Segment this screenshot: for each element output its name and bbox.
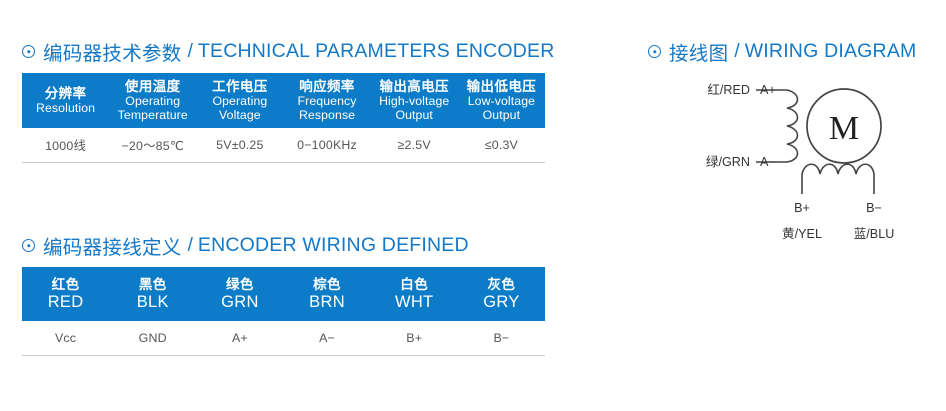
section-heading-encoder-wiring-defined: 编码器接线定义 / ENCODER WIRING DEFINED [22, 231, 469, 260]
label-b-minus: B− [866, 201, 882, 215]
column-header-brown: 棕色 BRN [283, 267, 370, 321]
column-header-black: 黑色 BLK [109, 267, 196, 321]
section-title-en: WIRING DIAGRAM [745, 40, 917, 63]
cell-red-signal: Vcc [22, 321, 109, 356]
label-a-minus: A− [760, 155, 776, 169]
column-header-en-line: High-voltage [371, 95, 458, 109]
encoder-wiring-table: 红色 RED 黑色 BLK 绿色 GRN 棕色 BRN 白色 WHT 灰色 GR… [22, 267, 545, 356]
label-red-wire: 红/RED [707, 82, 750, 97]
column-header-frequency-response: 响应频率 Frequency Response [283, 73, 370, 128]
column-header-cn: 输出低电压 [458, 79, 545, 95]
column-header-cn: 灰色 [458, 276, 545, 293]
section-heading-technical-parameters: 编码器技术参数 / TECHNICAL PARAMETERS ENCODER [22, 37, 555, 66]
column-header-cn: 红色 [22, 276, 109, 293]
cell-frequency-response-value: 0−100KHz [283, 128, 370, 163]
coil-phase-a [787, 90, 798, 162]
section-title-cn: 编码器接线定义 [43, 231, 182, 260]
section-heading-wiring-diagram: 接线图 / WIRING DIAGRAM [648, 37, 916, 66]
cell-green-signal: A+ [196, 321, 283, 356]
column-header-cn: 分辨率 [22, 86, 109, 102]
column-header-en: BRN [283, 293, 370, 312]
section-title-separator: / [734, 41, 739, 63]
column-header-cn: 白色 [371, 276, 458, 293]
section-title-en: ENCODER WIRING DEFINED [198, 234, 469, 257]
label-green-wire: 绿/GRN [706, 155, 750, 169]
column-header-cn: 响应频率 [283, 79, 370, 95]
technical-parameters-table: 分辨率 Resolution 使用温度 Operating Temperatur… [22, 73, 545, 163]
section-title-separator: / [188, 235, 193, 257]
coil-phase-b [802, 164, 874, 194]
column-header-cn: 绿色 [196, 276, 283, 293]
column-header-gray: 灰色 GRY [458, 267, 545, 321]
table-body: Vcc GND A+ A− B+ B− [22, 321, 545, 356]
section-title-cn: 编码器技术参数 [43, 37, 182, 66]
column-header-red: 红色 RED [22, 267, 109, 321]
section-title-cn: 接线图 [669, 37, 728, 66]
column-header-en: BLK [109, 293, 196, 312]
table-header-row: 红色 RED 黑色 BLK 绿色 GRN 棕色 BRN 白色 WHT 灰色 GR… [22, 267, 545, 321]
cell-high-voltage-output-value: ≥2.5V [371, 128, 458, 163]
circle-dot-icon [22, 45, 35, 58]
column-header-cn: 黑色 [109, 276, 196, 293]
motor-wiring-diagram: M 红/RED A+ 绿/GRN A− B+ B− 黄/YEL 蓝/BLU [648, 66, 938, 246]
section-title-en: TECHNICAL PARAMETERS ENCODER [198, 40, 555, 63]
label-a-plus: A+ [760, 83, 776, 97]
column-header-en: GRY [458, 293, 545, 312]
column-header-en: WHT [371, 293, 458, 312]
cell-operating-temperature-value: −20～85℃ [109, 128, 196, 163]
column-header-white: 白色 WHT [371, 267, 458, 321]
column-header-operating-voltage: 工作电压 Operating Voltage [196, 73, 283, 128]
column-header-cn: 工作电压 [196, 79, 283, 95]
cell-brown-signal: A− [283, 321, 370, 356]
column-header-cn: 输出高电压 [371, 79, 458, 95]
table-row: 1000线 −20～85℃ 5V±0.25 0−100KHz ≥2.5V ≤0.… [22, 128, 545, 163]
table-header: 红色 RED 黑色 BLK 绿色 GRN 棕色 BRN 白色 WHT 灰色 GR… [22, 267, 545, 321]
table-row: Vcc GND A+ A− B+ B− [22, 321, 545, 356]
column-header-resolution: 分辨率 Resolution [22, 73, 109, 128]
circle-dot-icon [648, 45, 661, 58]
cell-operating-voltage-value: 5V±0.25 [196, 128, 283, 163]
column-header-en-line: Resolution [22, 102, 109, 116]
circle-dot-icon [22, 239, 35, 252]
column-header-en-line: Operating [196, 95, 283, 109]
cell-white-signal: B+ [371, 321, 458, 356]
table-header: 分辨率 Resolution 使用温度 Operating Temperatur… [22, 73, 545, 128]
column-header-en: GRN [196, 293, 283, 312]
column-header-operating-temperature: 使用温度 Operating Temperature [109, 73, 196, 128]
cell-resolution-value: 1000线 [22, 128, 109, 163]
cell-gray-signal: B− [458, 321, 545, 356]
column-header-green: 绿色 GRN [196, 267, 283, 321]
column-header-en-line: Operating [109, 95, 196, 109]
cell-black-signal: GND [109, 321, 196, 356]
label-yellow-wire: 黄/YEL [782, 227, 822, 241]
column-header-low-voltage-output: 输出低电压 Low-voltage Output [458, 73, 545, 128]
column-header-en-line: Temperature [109, 109, 196, 123]
column-header-high-voltage-output: 输出高电压 High-voltage Output [371, 73, 458, 128]
column-header-en-line: Low-voltage [458, 95, 545, 109]
column-header-en-line: Frequency [283, 95, 370, 109]
column-header-en-line: Output [458, 109, 545, 123]
cell-low-voltage-output-value: ≤0.3V [458, 128, 545, 163]
column-header-en-line: Voltage [196, 109, 283, 123]
table-body: 1000线 −20～85℃ 5V±0.25 0−100KHz ≥2.5V ≤0.… [22, 128, 545, 163]
column-header-en-line: Output [371, 109, 458, 123]
motor-label: M [829, 110, 859, 147]
column-header-en-line: Response [283, 109, 370, 123]
column-header-en: RED [22, 293, 109, 312]
label-b-plus: B+ [794, 201, 810, 215]
column-header-cn: 棕色 [283, 276, 370, 293]
label-blue-wire: 蓝/BLU [854, 227, 895, 241]
table-header-row: 分辨率 Resolution 使用温度 Operating Temperatur… [22, 73, 545, 128]
column-header-cn: 使用温度 [109, 79, 196, 95]
section-title-separator: / [188, 41, 193, 63]
